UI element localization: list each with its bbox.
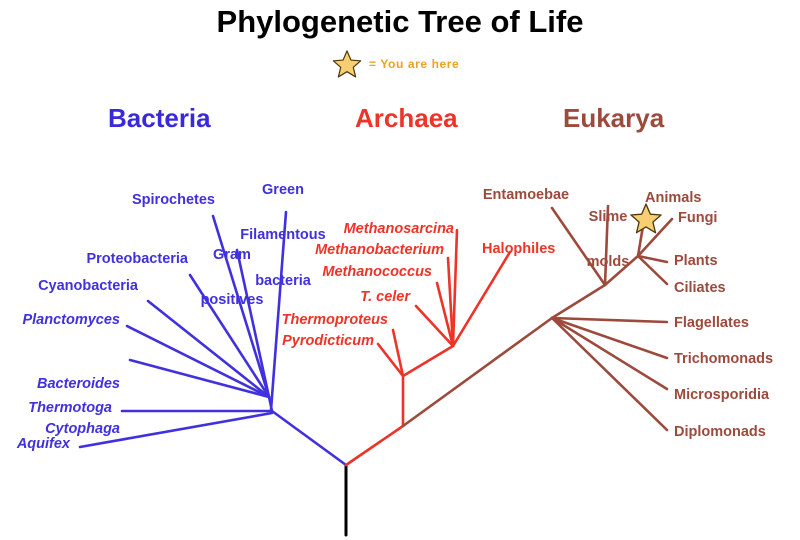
taxon-label-slime-molds: Slime molds — [580, 180, 636, 301]
taxon-label-slime-molds-line1: Slime — [580, 210, 636, 225]
taxon-label-plants: Plants — [674, 254, 734, 269]
taxon-label-methanobacterium: Methanobacterium — [294, 243, 444, 258]
phylogenetic-tree-figure: Phylogenetic Tree of Life = You are here… — [0, 0, 800, 540]
branch-bacteria-stem — [272, 411, 346, 465]
branch-microsporidia — [552, 318, 667, 389]
taxon-label-animals: Animals — [645, 191, 711, 206]
taxon-label-bacteroides: Bacteroides — [8, 377, 120, 392]
taxon-label-thermotoga: Thermotoga — [8, 401, 112, 416]
taxon-label-microsporidia: Microsporidia — [674, 388, 784, 403]
taxon-label-planctomyces: Planctomyces — [8, 313, 120, 328]
taxon-label-aquifex: Aquifex — [8, 437, 70, 452]
taxon-label-fungi: Fungi — [678, 211, 734, 226]
taxon-label-gram-positives: Gram positives — [196, 218, 268, 339]
taxon-label-diplomonads: Diplomonads — [674, 425, 778, 440]
taxon-label-methanosarcina: Methanosarcina — [330, 222, 454, 237]
taxon-label-gram-positives-line2: positives — [196, 293, 268, 308]
taxon-label-trichomonads: Trichomonads — [674, 352, 780, 367]
branch-eukarya-stem — [403, 318, 552, 426]
taxon-label-slime-molds-line2: molds — [580, 255, 636, 270]
taxon-label-thermoproteus: Thermoproteus — [268, 313, 388, 328]
taxon-label-spirochetes: Spirochetes — [100, 193, 215, 208]
taxon-label-green-filamentous-line1: Green — [228, 183, 338, 198]
taxon-label-pyrodicticum: Pyrodicticum — [262, 334, 374, 349]
taxon-label-gram-positives-line1: Gram — [196, 248, 268, 263]
branch-methanosarcina — [453, 230, 457, 346]
taxon-label-ciliates: Ciliates — [674, 281, 740, 296]
taxon-label-t-celer: T. celer — [332, 290, 410, 305]
taxon-label-methanococcus: Methanococcus — [300, 265, 432, 280]
taxon-label-halophiles: Halophiles — [482, 242, 572, 257]
branch-flagellates — [552, 318, 667, 322]
branch-archaea-stem — [346, 426, 403, 465]
branch-halophiles — [453, 252, 510, 346]
taxon-label-cyanobacteria: Cyanobacteria — [8, 279, 138, 294]
branch-archaea-internal-2 — [403, 346, 453, 376]
taxon-label-entamoebae: Entamoebae — [474, 188, 578, 203]
taxon-label-proteobacteria: Proteobacteria — [60, 252, 188, 267]
taxon-label-flagellates: Flagellates — [674, 316, 760, 331]
branch-diplomonads — [552, 318, 667, 430]
